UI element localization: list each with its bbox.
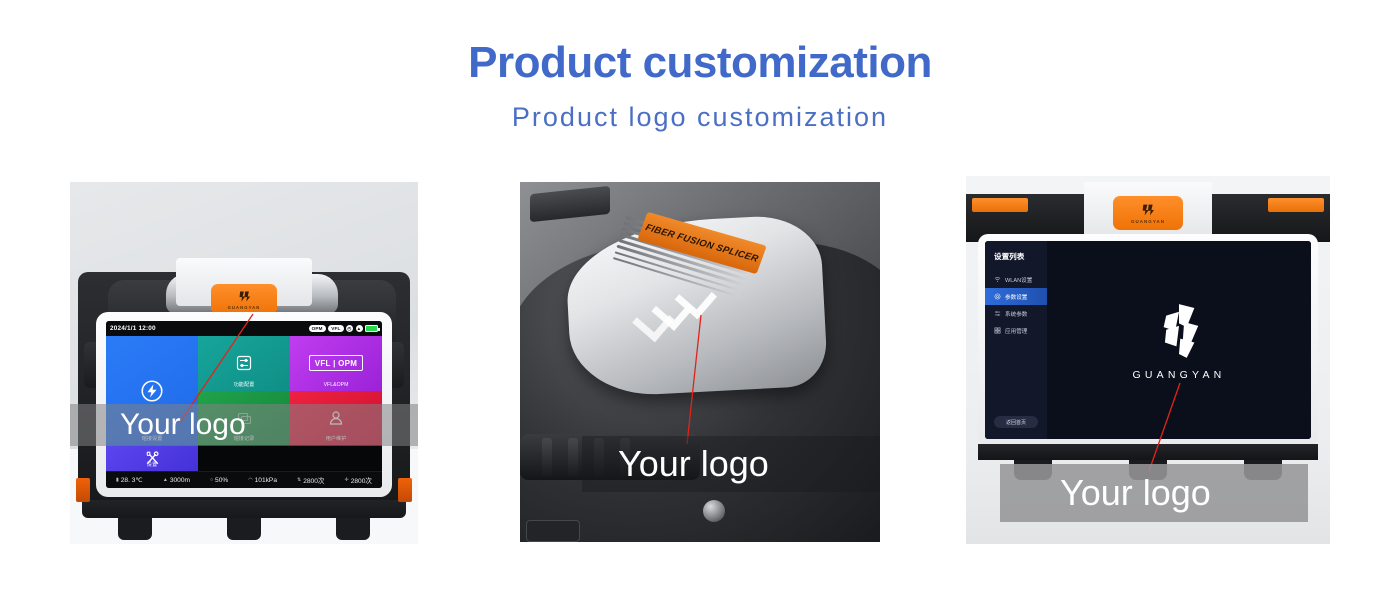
your-logo-text: Your logo [618,443,769,485]
page-subtitle: Product logo customization [0,102,1400,133]
page-root: Product customization Product logo custo… [0,0,1400,600]
logo-overlay-band-3: Your logo [1000,464,1308,522]
header: Product customization Product logo custo… [0,0,1400,133]
pointer-line-panel1 [70,182,418,544]
your-logo-text: Your logo [120,408,246,442]
your-logo-text: Your logo [1060,472,1211,514]
page-title: Product customization [0,40,1400,86]
logo-overlay-band-2: Your logo [582,436,880,492]
logo-overlay-band-1: Your logo [70,404,418,446]
panel-full-splicer: GUANGYAN 2024/1/1 12:00 OPM VFL ◴ ▲ [70,182,418,544]
